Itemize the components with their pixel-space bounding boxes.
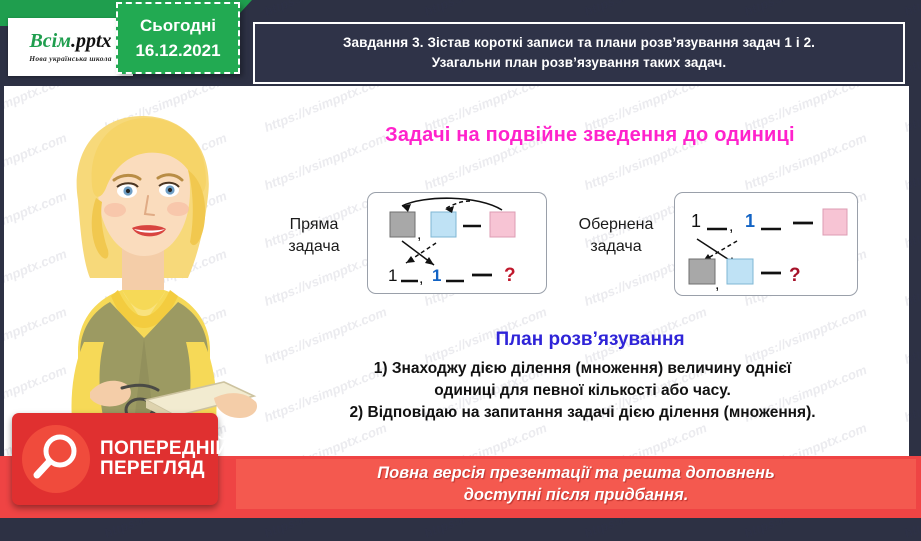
inverse-label-line2: задача	[590, 238, 641, 255]
plan-step-line-2: одиниці для певної кількості або часу.	[250, 380, 915, 402]
logo-wordmark: Всім.pptx	[29, 31, 111, 51]
inverse-problem-label: Обернена задача	[562, 214, 670, 257]
watermark-text: https://vsimpptx.com	[902, 0, 921, 19]
svg-text:1: 1	[388, 266, 397, 285]
svg-text:,: ,	[417, 226, 421, 243]
svg-text:,: ,	[419, 270, 423, 287]
teacher-illustration	[18, 92, 268, 422]
svg-text:1: 1	[691, 211, 701, 231]
svg-text:?: ?	[789, 265, 801, 286]
direct-label-line2: задача	[288, 238, 339, 255]
plan-step-line-3: 2) Відповідаю на запитання задачі дією д…	[250, 402, 915, 424]
logo-subtitle: Нова українська школа	[29, 54, 112, 63]
watermark-text: https://vsimpptx.com	[742, 0, 869, 19]
preview-badge-text: ПОПЕРЕДНІЙ ПЕРЕГЛЯД	[100, 439, 229, 479]
purchase-notice-line1: Повна версія презентації та решта доповн…	[377, 462, 775, 484]
svg-text:?: ?	[504, 265, 516, 286]
slide-root: https://vsimpptx.comhttps://vsimpptx.com…	[0, 0, 921, 518]
plan-steps: 1) Знаходжу дією ділення (множення) вели…	[250, 358, 915, 424]
today-label: Сьогодні	[140, 13, 216, 39]
direct-problem-diagram: , 1 , 1	[367, 192, 547, 294]
today-date-badge: Сьогодні 16.12.2021	[116, 2, 240, 74]
preview-badge[interactable]: ПОПЕРЕДНІЙ ПЕРЕГЛЯД	[12, 413, 218, 505]
logo-word-vsim: Всім	[29, 30, 70, 52]
preview-badge-line1: ПОПЕРЕДНІЙ	[100, 439, 229, 459]
brand-logo[interactable]: Всім.pptx Нова українська школа	[8, 18, 133, 76]
task-header-line2: Узагальни план розв’язування таких задач…	[432, 55, 726, 70]
svg-text:,: ,	[729, 218, 733, 235]
svg-text:1: 1	[745, 211, 755, 231]
logo-word-pptx: .pptx	[71, 30, 112, 52]
plan-heading: План розв’язування	[270, 329, 910, 351]
task-header-text: Завдання 3. Зістав короткі записи та пла…	[335, 33, 823, 72]
preview-badge-line2: ПЕРЕГЛЯД	[100, 459, 229, 479]
page-title: Задачі на подвійне зведення до одиниці	[270, 124, 910, 147]
purchase-notice-banner: Повна версія презентації та решта доповн…	[236, 459, 916, 509]
today-date: 16.12.2021	[135, 38, 220, 64]
svg-text:1: 1	[432, 266, 441, 285]
watermark-text: https://vsimpptx.com	[582, 0, 709, 19]
direct-problem-label: Пряма задача	[266, 214, 362, 257]
task-header-line1: Завдання 3. Зістав короткі записи та пла…	[343, 35, 815, 50]
watermark-text: https://vsimpptx.com	[422, 0, 549, 19]
magnifier-icon	[22, 425, 90, 493]
direct-label-line1: Пряма	[290, 216, 339, 233]
task-header-bar: Завдання 3. Зістав короткі записи та пла…	[253, 22, 905, 84]
diagrams-row: Пряма задача ,	[262, 190, 910, 305]
inverse-problem-diagram: 1 , 1 , ?	[674, 192, 858, 296]
plan-step-line-1: 1) Знаходжу дією ділення (множення) вели…	[250, 358, 915, 380]
purchase-notice-line2: доступні після придбання.	[464, 484, 689, 506]
inverse-label-line1: Обернена	[579, 216, 654, 233]
svg-text:,: ,	[715, 276, 719, 293]
watermark-text: https://vsimpptx.com	[262, 0, 389, 19]
